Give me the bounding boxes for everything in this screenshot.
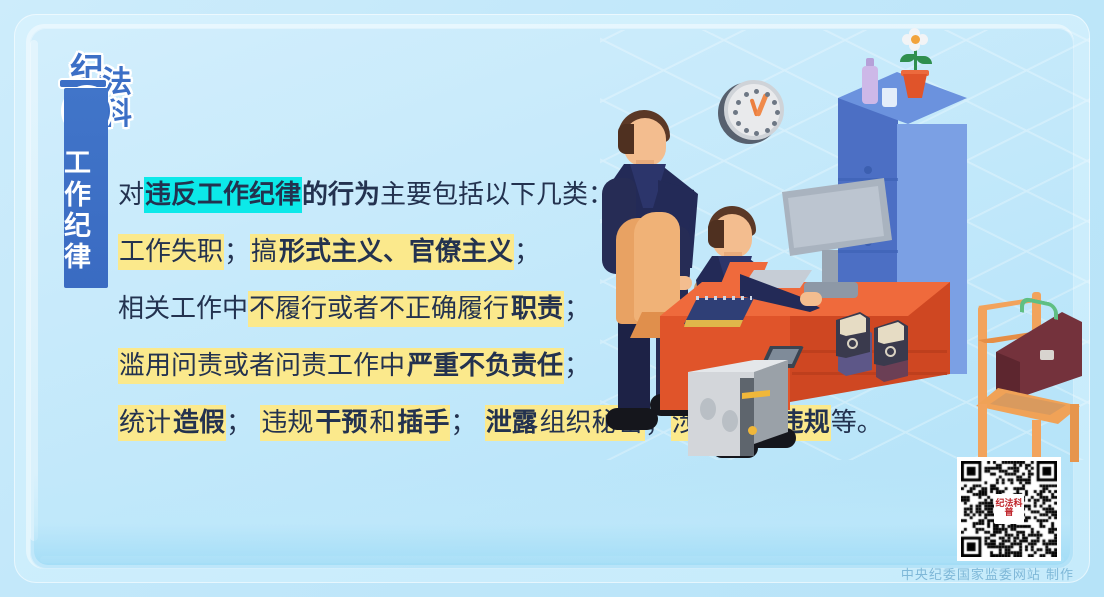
office-illustration	[600, 60, 1100, 480]
clock-tick	[765, 92, 770, 97]
text-segment: 职责	[510, 291, 564, 327]
wall-clock-icon	[724, 80, 784, 140]
text-segment: 泄露	[485, 405, 539, 441]
text-segment: 造假	[172, 405, 226, 441]
text-segment: ；	[564, 351, 590, 381]
wooden-chair-leg	[1070, 404, 1079, 462]
clock-tick	[736, 121, 741, 126]
text-segment: 主要包括以下几类：	[380, 180, 614, 210]
text-segment: ；	[564, 294, 590, 324]
text-segment: 违反工作纪律	[144, 177, 302, 213]
text-segment: 滥用问责或者问责工作中	[118, 348, 406, 384]
seated-person-hand	[800, 292, 822, 306]
cabinet-knob	[864, 166, 872, 174]
text-segment: 干预	[314, 405, 368, 441]
standing-person-hair-side	[618, 124, 634, 154]
qr-logo-text: 纪法科普	[994, 500, 1024, 519]
pc-tower-power-button	[748, 426, 757, 435]
text-segment: 形式主义、官僚主义	[278, 234, 514, 270]
clock-tick	[754, 89, 759, 94]
text-segment: 和	[368, 405, 396, 441]
clock-tick	[736, 100, 741, 105]
pc-tower-panel	[740, 378, 754, 456]
credit-line: 中央纪委国家监委网站 制作	[901, 564, 1074, 583]
logo-bar	[60, 80, 106, 87]
cabinet-drawer-line	[838, 250, 898, 253]
standing-person-shoe	[606, 408, 658, 430]
text-segment: 不履行或者不正确履行	[248, 291, 510, 327]
clock-tick	[765, 128, 770, 133]
text-segment: 插手	[396, 405, 450, 441]
water-bottle-icon	[862, 66, 878, 104]
text-segment	[476, 408, 484, 438]
file-holder-ring	[885, 346, 896, 357]
text-segment: ；	[514, 237, 540, 267]
notebook-page-edge	[684, 320, 743, 327]
text-segment: 搞	[250, 234, 278, 270]
clock-tick	[733, 110, 738, 115]
seated-person-hair-side	[708, 220, 724, 248]
qr-center-logo: 纪法科普	[994, 494, 1024, 524]
text-segment: ；	[450, 408, 476, 438]
clock-tick	[775, 110, 780, 115]
text-segment: 相关工作中	[118, 294, 248, 324]
text-segment: ；	[224, 237, 250, 267]
desk-drawer-line	[792, 372, 947, 375]
text-segment: ；	[226, 408, 252, 438]
text-segment: 统计	[118, 405, 172, 441]
poster-root: 纪 法 科 工作纪律 对违反工作纪律的行为主要包括以下几类：工作失职；搞形式主义…	[0, 0, 1104, 597]
clock-tick	[754, 131, 759, 136]
text-segment: 对	[118, 180, 144, 210]
banner-title-text: 工作纪律	[64, 148, 108, 273]
vertical-title-banner: 工作纪律	[64, 88, 108, 288]
flower-icon	[902, 28, 928, 52]
qr-code[interactable]: 纪法科普	[957, 457, 1061, 561]
clock-tick	[744, 128, 749, 133]
clock-tick	[772, 121, 777, 126]
clock-tick	[744, 92, 749, 97]
wooden-chair-back-post	[978, 306, 987, 410]
briefcase-lock	[1040, 350, 1054, 360]
text-segment: 违规	[260, 405, 314, 441]
clock-tick	[772, 100, 777, 105]
file-holder-ring	[847, 338, 858, 349]
pc-tower-side-panel	[754, 360, 788, 444]
frame-highlight-vertical	[30, 40, 38, 541]
floor-glow	[34, 473, 1070, 565]
notebook-rings	[696, 296, 752, 300]
pc-tower-vent	[700, 398, 716, 420]
text-segment: 的行为	[302, 180, 380, 210]
pc-tower-vent	[722, 410, 738, 432]
text-segment: 工作失职	[118, 234, 224, 270]
text-segment: 严重不负责任	[406, 348, 564, 384]
drinking-glass-icon	[882, 88, 897, 107]
